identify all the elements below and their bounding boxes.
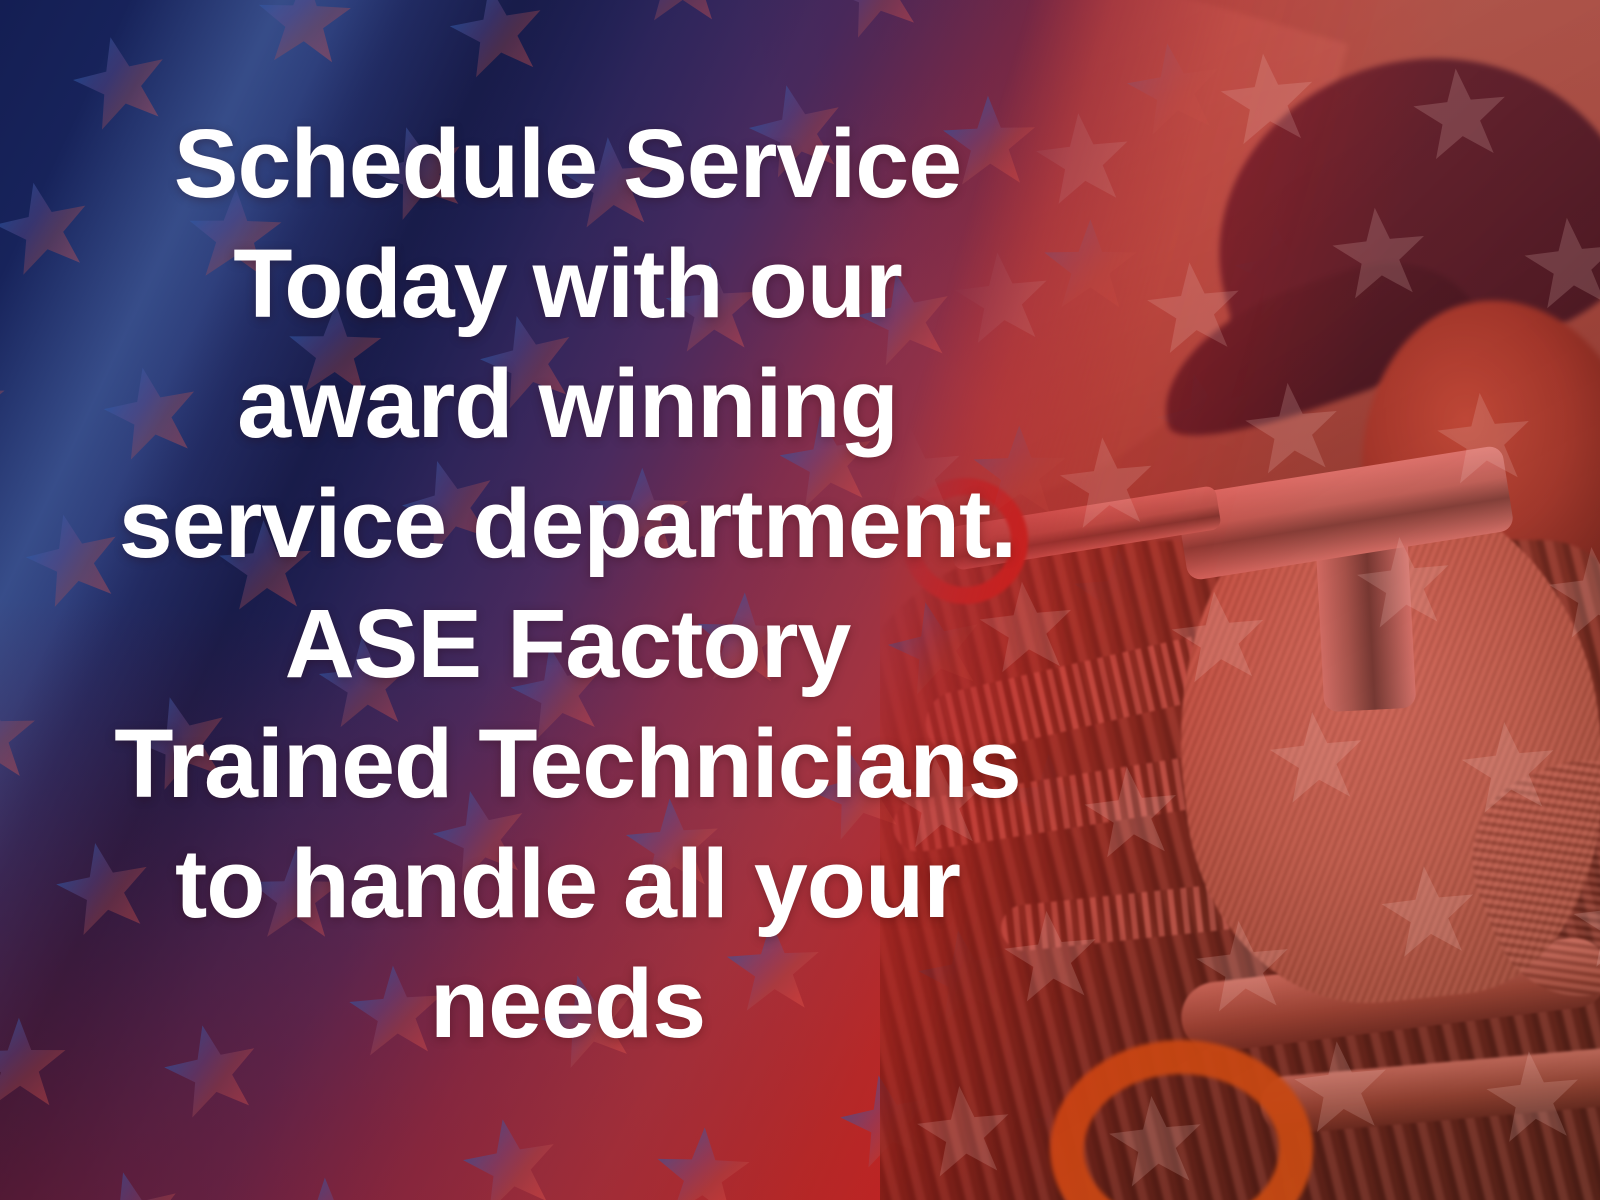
banner-headline: Schedule Service Today with our award wi… [0, 0, 1135, 1064]
service-promo-banner: Schedule Service Today with our award wi… [0, 0, 1600, 1200]
